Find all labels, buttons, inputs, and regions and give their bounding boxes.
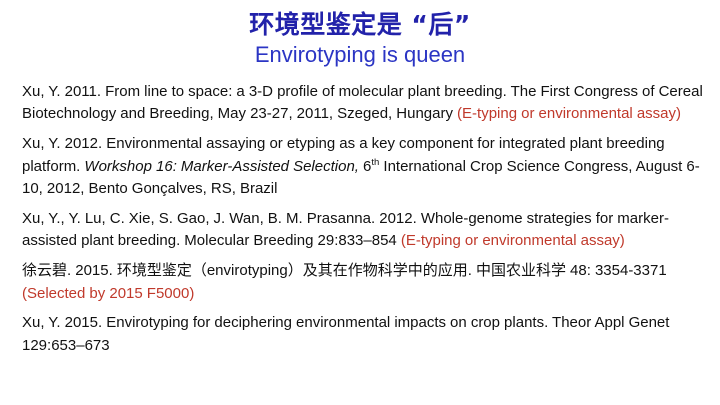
reference-item: Xu, Y., Y. Lu, C. Xie, S. Gao, J. Wan, B… (22, 208, 706, 253)
reference-text: Xu, Y. 2015. Envirotyping for decipherin… (22, 314, 669, 354)
slide-canvas: 环境型鉴定是 “后” Envirotyping is queen Xu, Y. … (0, 0, 720, 405)
reference-annotation: (E-typing or environmental assay) (457, 105, 681, 122)
reference-item: Xu, Y. 2011. From line to space: a 3-D p… (22, 81, 706, 126)
reference-item: Xu, Y. 2015. Envirotyping for decipherin… (22, 312, 706, 357)
slide-title-block: 环境型鉴定是 “后” Envirotyping is queen (0, 0, 720, 70)
reference-item: Xu, Y. 2012. Environmental assaying or e… (22, 133, 706, 201)
reference-text: 6 (359, 158, 371, 175)
reference-item: 徐云碧. 2015. 环境型鉴定（envirotyping）及其在作物科学中的应… (22, 260, 706, 305)
slide-title-english: Envirotyping is queen (0, 41, 720, 70)
reference-italic-title: Workshop 16: Marker-Assisted Selection, (84, 158, 359, 175)
reference-annotation: (E-typing or environmental assay) (401, 232, 625, 249)
reference-annotation: (Selected by 2015 F5000) (22, 285, 194, 302)
reference-text: 徐云碧. 2015. 环境型鉴定（envirotyping）及其在作物科学中的应… (22, 262, 667, 279)
reference-list: Xu, Y. 2011. From line to space: a 3-D p… (0, 81, 720, 358)
slide-title-chinese: 环境型鉴定是 “后” (0, 9, 720, 40)
